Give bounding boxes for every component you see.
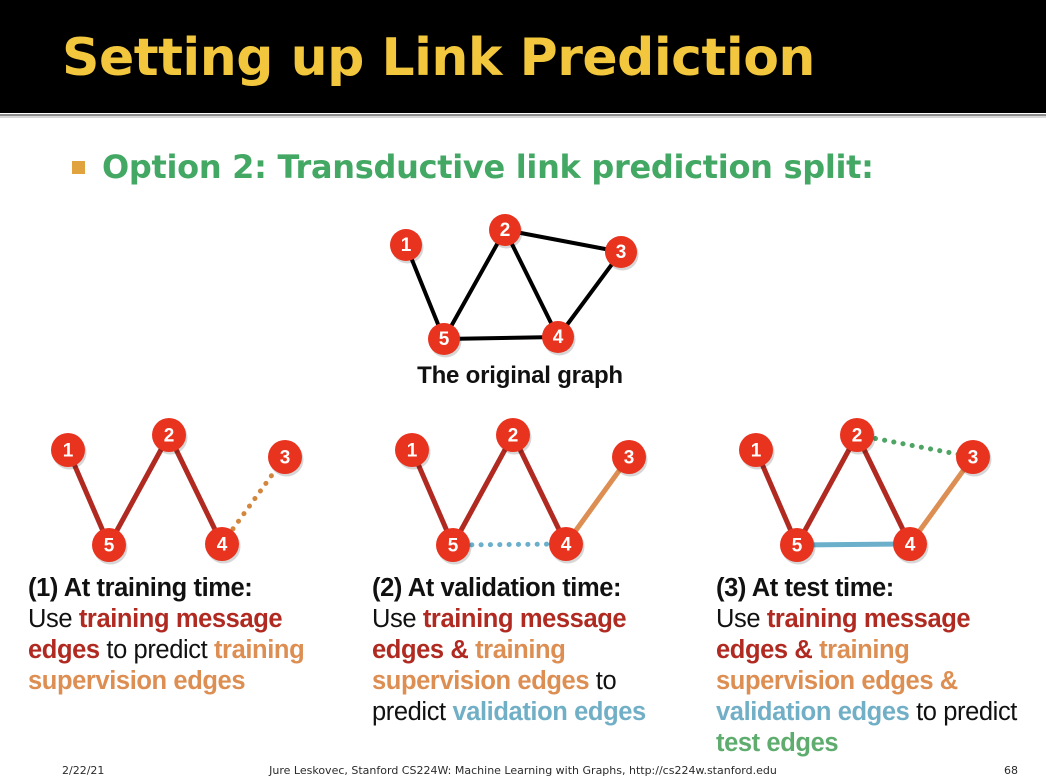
graph-node-1: 1 <box>739 433 775 470</box>
graph-node-label: 5 <box>792 535 803 556</box>
original-graph-caption: The original graph <box>370 362 670 390</box>
graph-node-label: 5 <box>104 535 115 556</box>
panel-training-svg: 12345 <box>28 415 348 565</box>
graph-node-3: 3 <box>268 440 304 477</box>
graph-node-4: 4 <box>893 527 929 564</box>
panel-training-diagram: 12345 <box>28 415 348 565</box>
graph-node-label: 5 <box>439 329 450 350</box>
graph-node-label: 3 <box>624 447 635 468</box>
graph-node-1: 1 <box>395 433 431 470</box>
graph-node-label: 2 <box>852 425 863 446</box>
caption-segment-training-message: & <box>450 636 475 664</box>
slide-title-bar: Setting up Link Prediction <box>0 0 1046 113</box>
panel-test: 12345 (3) At test time:Use training mess… <box>716 415 1046 759</box>
panel-test-caption: (3) At test time:Use training message ed… <box>716 573 1031 759</box>
footer-page-number: 68 <box>1004 764 1018 777</box>
caption-segment-training-supervision: & <box>940 667 958 695</box>
caption-segment-validation: validation edges <box>716 698 916 726</box>
graph-node-label: 4 <box>905 534 916 555</box>
panel-validation-caption: (2) At validation time:Use training mess… <box>372 573 687 728</box>
graph-node-label: 1 <box>751 440 762 461</box>
graph-node-label: 1 <box>401 235 412 256</box>
graph-node-label: 4 <box>553 327 564 348</box>
graph-node-label: 3 <box>968 447 979 468</box>
panel-test-diagram: 12345 <box>716 415 1036 565</box>
caption-segment-plain: Use <box>28 605 79 633</box>
caption-segment-plain: to predict <box>916 698 1017 726</box>
footer-attribution: Jure Leskovec, Stanford CS224W: Machine … <box>0 764 1046 777</box>
graph-node-4: 4 <box>542 321 576 356</box>
page-title: Setting up Link Prediction <box>62 28 815 88</box>
graph-node-label: 1 <box>407 440 418 461</box>
panel-test-svg: 12345 <box>716 415 1036 565</box>
graph-edge-2-5 <box>444 230 505 339</box>
caption-segment-test: test edges <box>716 729 838 757</box>
graph-node-label: 3 <box>280 447 291 468</box>
panel-caption-heading: (3) At test time: <box>716 574 894 602</box>
panel-training-caption: (1) At training time:Use training messag… <box>28 573 343 697</box>
panel-validation-diagram: 12345 <box>372 415 692 565</box>
caption-segment-plain: Use <box>372 605 423 633</box>
graph-node-1: 1 <box>390 229 424 264</box>
square-bullet-icon <box>72 161 85 174</box>
original-graph-svg: 12345 <box>370 212 670 362</box>
panel-caption-heading: (1) At training time: <box>28 574 252 602</box>
graph-edge-5-2 <box>797 435 857 545</box>
graph-node-5: 5 <box>92 528 128 565</box>
caption-segment-plain: Use <box>716 605 767 633</box>
graph-node-5: 5 <box>436 528 472 565</box>
graph-node-2: 2 <box>152 418 188 455</box>
graph-node-label: 2 <box>164 425 175 446</box>
graph-node-5: 5 <box>780 528 816 565</box>
graph-node-5: 5 <box>428 323 462 358</box>
panel-validation-svg: 12345 <box>372 415 692 565</box>
header-divider <box>0 113 1046 121</box>
panel-validation: 12345 (2) At validation time:Use trainin… <box>372 415 717 728</box>
slide-footer: 2/22/21 Jure Leskovec, Stanford CS224W: … <box>0 760 1046 784</box>
graph-node-2: 2 <box>840 418 876 455</box>
graph-node-4: 4 <box>205 527 241 564</box>
panel-training: 12345 (1) At training time:Use training … <box>28 415 373 697</box>
graph-node-2: 2 <box>489 214 523 249</box>
caption-segment-validation: validation edges <box>452 698 645 726</box>
graph-node-2: 2 <box>496 418 532 455</box>
caption-segment-plain: to predict <box>106 636 214 664</box>
graph-node-label: 4 <box>217 534 228 555</box>
graph-node-label: 2 <box>508 425 519 446</box>
panel-caption-heading: (2) At validation time: <box>372 574 621 602</box>
graph-node-1: 1 <box>51 433 87 470</box>
graph-node-label: 4 <box>561 534 572 555</box>
graph-edge-5-2 <box>453 435 513 545</box>
original-graph-diagram: 12345 <box>370 212 670 362</box>
option-bullet-row: Option 2: Transductive link prediction s… <box>72 148 874 186</box>
graph-node-4: 4 <box>549 527 585 564</box>
caption-segment-training-message: & <box>794 636 819 664</box>
graph-node-label: 1 <box>63 440 74 461</box>
option-bullet-label: Option 2: Transductive link prediction s… <box>102 148 874 186</box>
graph-node-label: 5 <box>448 535 459 556</box>
graph-edge-5-2 <box>109 435 169 545</box>
graph-node-label: 2 <box>500 220 511 241</box>
graph-node-label: 3 <box>616 242 627 263</box>
